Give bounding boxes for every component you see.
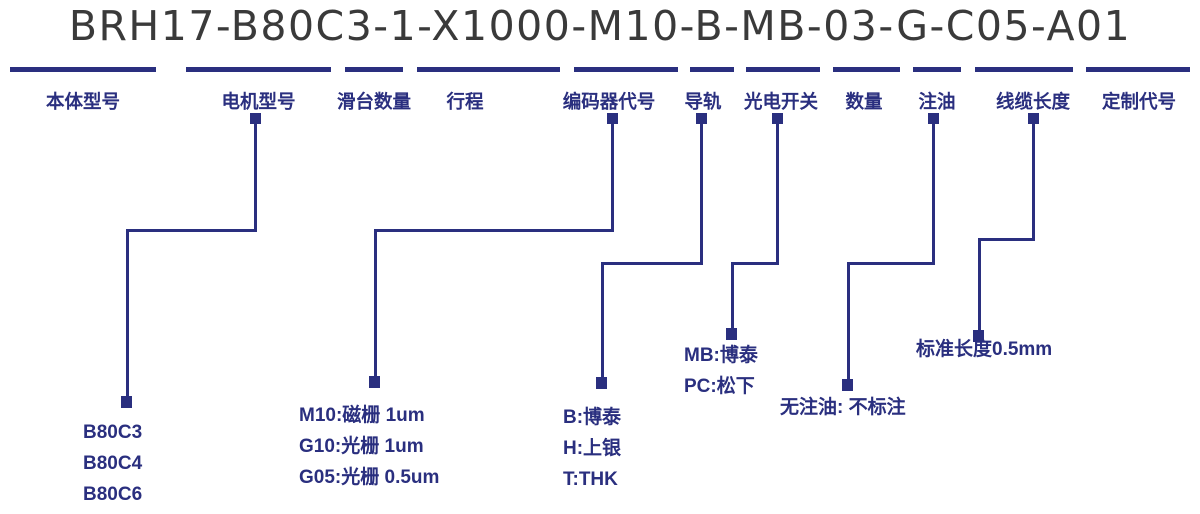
leader-switch-vertical bbox=[776, 118, 779, 264]
annotation-guide-rail-line-1: B:博泰 bbox=[563, 402, 621, 433]
leader-endpoint-oiling bbox=[842, 379, 853, 391]
leader-cable-vertical bbox=[1032, 118, 1035, 240]
leader-encoder-horizontal bbox=[374, 229, 614, 232]
segment-bar-cable-length bbox=[975, 67, 1073, 72]
leader-oiling-dropline bbox=[847, 262, 850, 382]
annotation-encoder-code-line-3: G05:光栅 0.5um bbox=[299, 462, 439, 493]
segment-label-custom-code: 定制代号 bbox=[1089, 88, 1189, 114]
annotation-photoelectric-switch-line-1: MB:博泰 bbox=[684, 340, 758, 371]
annotation-body-model: B80C3 B80C4 B80C6 bbox=[83, 417, 142, 510]
leader-rail-horizontal bbox=[601, 262, 703, 265]
annotation-cable-length-line-1: 标准长度0.5mm bbox=[916, 334, 1052, 365]
leader-encoder-vertical bbox=[611, 118, 614, 231]
segment-bar-body-model bbox=[10, 67, 156, 72]
leader-endpoint-guide-rail bbox=[596, 377, 607, 389]
annotation-oiling: 无注油: 不标注 bbox=[780, 392, 906, 423]
segment-label-slider-quantity: 滑台数量 bbox=[329, 88, 419, 114]
leader-encoder-dropline bbox=[374, 229, 377, 379]
annotation-encoder-code-line-2: G10:光栅 1um bbox=[299, 431, 439, 462]
annotation-photoelectric-switch-line-2: PC:松下 bbox=[684, 371, 758, 402]
annotation-body-model-line-3: B80C6 bbox=[83, 479, 142, 510]
leader-rail-vertical bbox=[700, 118, 703, 264]
leader-motor-dropline bbox=[126, 229, 129, 401]
segment-label-cable-length: 线缆长度 bbox=[985, 88, 1081, 114]
leader-motor-vertical bbox=[254, 118, 257, 231]
model-code-title: BRH17-B80C3-1-X1000-M10-B-MB-03-G-C05-A0… bbox=[0, 2, 1200, 50]
leader-endpoint-photoelectric-switch bbox=[726, 328, 737, 340]
segment-bar-stroke bbox=[417, 67, 560, 72]
segment-label-photoelectric-switch: 光电开关 bbox=[738, 88, 824, 114]
leader-endpoint-body-model bbox=[121, 396, 132, 408]
annotation-encoder-code: M10:磁栅 1um G10:光栅 1um G05:光栅 0.5um bbox=[299, 400, 439, 493]
annotation-body-model-line-2: B80C4 bbox=[83, 448, 142, 479]
segment-label-oiling: 注油 bbox=[913, 88, 961, 114]
model-code-breakdown-diagram: BRH17-B80C3-1-X1000-M10-B-MB-03-G-C05-A0… bbox=[0, 0, 1200, 514]
annotation-cable-length: 标准长度0.5mm bbox=[916, 334, 1052, 365]
segment-bar-quantity bbox=[833, 67, 900, 72]
annotation-body-model-line-1: B80C3 bbox=[83, 417, 142, 448]
segment-bar-photoelectric-switch bbox=[746, 67, 820, 72]
annotation-encoder-code-line-1: M10:磁栅 1um bbox=[299, 400, 439, 431]
annotation-oiling-line-1: 无注油: 不标注 bbox=[780, 392, 906, 423]
segment-label-motor-model: 电机型号 bbox=[186, 88, 331, 114]
leader-motor-horizontal bbox=[126, 229, 257, 232]
segment-bar-guide-rail bbox=[690, 67, 734, 72]
segment-bar-motor-model bbox=[186, 67, 331, 72]
leader-switch-dropline bbox=[731, 262, 734, 330]
annotation-guide-rail: B:博泰 H:上银 T:THK bbox=[563, 402, 621, 495]
segment-bar-slider-quantity bbox=[345, 67, 403, 72]
annotation-guide-rail-line-2: H:上银 bbox=[563, 433, 621, 464]
segment-bar-custom-code bbox=[1086, 67, 1190, 72]
annotation-photoelectric-switch: MB:博泰 PC:松下 bbox=[684, 340, 758, 402]
leader-cable-horizontal bbox=[978, 238, 1035, 241]
leader-switch-horizontal bbox=[731, 262, 779, 265]
leader-rail-dropline bbox=[601, 262, 604, 380]
segment-label-encoder-code: 编码器代号 bbox=[551, 88, 667, 114]
segment-label-stroke: 行程 bbox=[426, 88, 504, 114]
leader-cable-dropline bbox=[978, 238, 981, 333]
leader-oiling-vertical bbox=[932, 118, 935, 264]
segment-label-quantity: 数量 bbox=[838, 88, 890, 114]
segment-label-guide-rail: 导轨 bbox=[679, 88, 727, 114]
leader-endpoint-encoder-code bbox=[369, 376, 380, 388]
leader-oiling-horizontal bbox=[847, 262, 935, 265]
segment-bar-oiling bbox=[913, 67, 961, 72]
segment-bar-encoder-code bbox=[574, 67, 678, 72]
annotation-guide-rail-line-3: T:THK bbox=[563, 464, 621, 495]
segment-label-body-model: 本体型号 bbox=[10, 88, 156, 114]
